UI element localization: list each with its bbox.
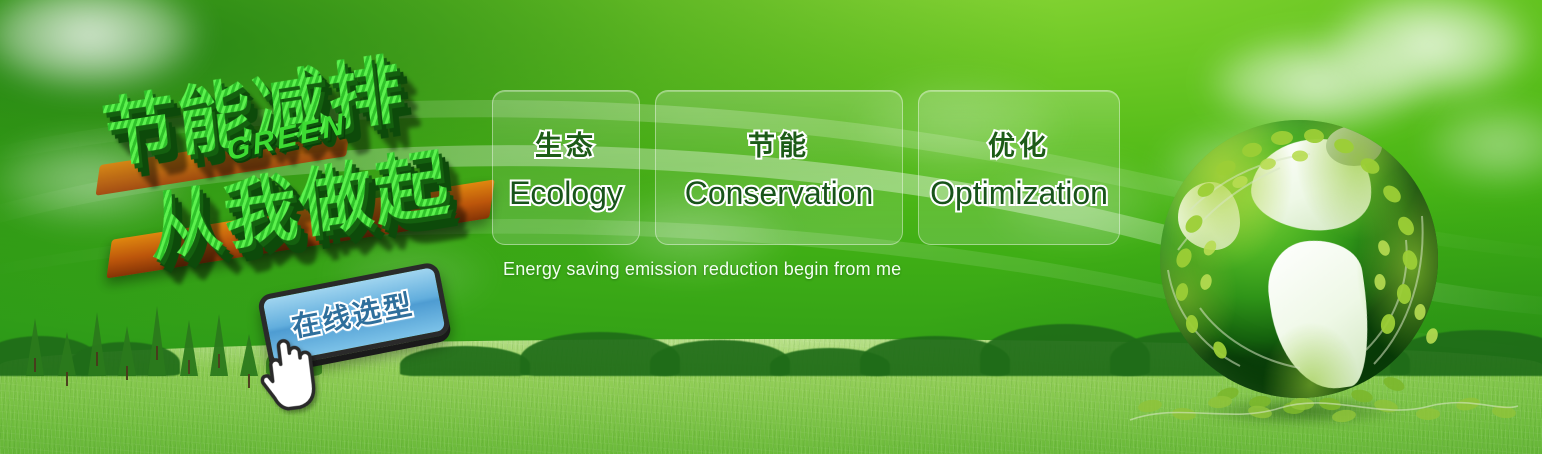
feature-card-en-label: Conservation: [685, 175, 874, 212]
tagline: Energy saving emission reduction begin f…: [503, 259, 901, 280]
green-globe: [1148, 116, 1448, 426]
feature-card-ecology[interactable]: 生态 Ecology: [492, 90, 640, 245]
conifer-tree-icon: [180, 320, 198, 376]
feature-card-cn-label: 节能: [748, 124, 810, 163]
conifer-tree-icon: [88, 312, 106, 376]
feature-card-conservation[interactable]: 节能 Conservation: [655, 90, 903, 245]
conifer-tree-icon: [210, 314, 228, 376]
hand-pointer-icon: [253, 329, 328, 414]
leaf-cluster-icon: [1148, 116, 1448, 426]
conifer-tree-icon: [118, 326, 136, 376]
headline-3d-title: 节能减排 GREEN 从我做起: [85, 22, 507, 293]
tree-silhouette-icon: [650, 340, 790, 376]
feature-card-cn-label: 优化: [988, 124, 1050, 163]
feature-card-en-label: Ecology: [509, 175, 623, 212]
green-banner: 节能减排 GREEN 从我做起 在线选型 生态 Ecology 节能 Conse…: [0, 0, 1542, 454]
feature-card-cn-label: 生态: [535, 124, 597, 163]
tree-silhouette-icon: [400, 346, 530, 376]
feature-card-en-label: Optimization: [930, 175, 1108, 212]
conifer-tree-icon: [26, 318, 44, 376]
conifer-tree-icon: [58, 332, 76, 376]
conifer-tree-icon: [148, 306, 166, 376]
feature-card-optimization[interactable]: 优化 Optimization: [918, 90, 1120, 245]
